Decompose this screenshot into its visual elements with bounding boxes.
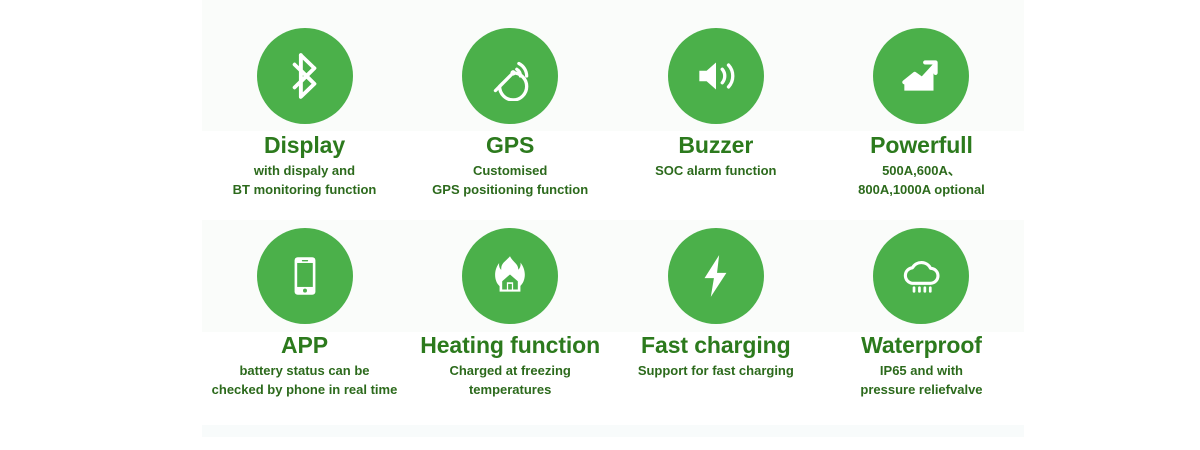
icon-badge-powerfull — [873, 28, 969, 124]
icon-badge-app — [257, 228, 353, 324]
feature-card-heating[interactable]: Heating function Charged at freezing tem… — [408, 228, 613, 400]
house-flame-heating-icon — [485, 251, 535, 301]
feature-card-app[interactable]: APP battery status can be checked by pho… — [202, 228, 407, 400]
feature-description: Customised GPS positioning function — [432, 162, 588, 200]
feature-description: IP65 and with pressure reliefvalve — [860, 362, 982, 400]
icon-badge-gps — [462, 28, 558, 124]
feature-description: 500A,600A、 800A,1000A optional — [858, 162, 985, 200]
feature-title: APP — [281, 333, 328, 358]
feature-card-display[interactable]: Display with dispaly and BT monitoring f… — [202, 28, 407, 200]
icon-badge-heating — [462, 228, 558, 324]
feature-card-buzzer[interactable]: Buzzer SOC alarm function — [613, 28, 818, 181]
feature-row-2: APP battery status can be checked by pho… — [202, 228, 1024, 400]
feature-description: Charged at freezing temperatures — [449, 362, 570, 400]
speaker-buzzer-icon — [691, 51, 741, 101]
lightning-bolt-icon — [691, 251, 741, 301]
feature-title: Display — [264, 133, 345, 158]
icon-badge-display — [257, 28, 353, 124]
icon-badge-fast-charging — [668, 228, 764, 324]
feature-title: Fast charging — [641, 333, 791, 358]
feature-title: Waterproof — [861, 333, 982, 358]
icon-badge-buzzer — [668, 28, 764, 124]
feature-card-gps[interactable]: GPS Customised GPS positioning function — [408, 28, 613, 200]
rain-cloud-icon — [896, 251, 946, 301]
feature-description: with dispaly and BT monitoring function — [233, 162, 377, 200]
feature-card-powerfull[interactable]: Powerfull 500A,600A、 800A,1000A optional — [819, 28, 1024, 200]
icon-badge-waterproof — [873, 228, 969, 324]
bluetooth-icon — [280, 51, 330, 101]
feature-board: Display with dispaly and BT monitoring f… — [0, 0, 1200, 450]
gps-satellite-dish-icon — [485, 51, 535, 101]
feature-row-1: Display with dispaly and BT monitoring f… — [202, 28, 1024, 200]
feature-title: GPS — [486, 133, 534, 158]
trending-up-chart-icon — [896, 51, 946, 101]
feature-title: Heating function — [420, 333, 600, 358]
feature-card-waterproof[interactable]: Waterproof IP65 and with pressure relief… — [819, 228, 1024, 400]
feature-title: Buzzer — [678, 133, 753, 158]
feature-description: battery status can be checked by phone i… — [212, 362, 398, 400]
smartphone-icon — [280, 251, 330, 301]
feature-title: Powerfull — [870, 133, 973, 158]
feature-grid: Display with dispaly and BT monitoring f… — [202, 0, 1024, 450]
feature-description: Support for fast charging — [638, 362, 794, 381]
feature-card-fast-charging[interactable]: Fast charging Support for fast charging — [613, 228, 818, 381]
feature-description: SOC alarm function — [655, 162, 776, 181]
